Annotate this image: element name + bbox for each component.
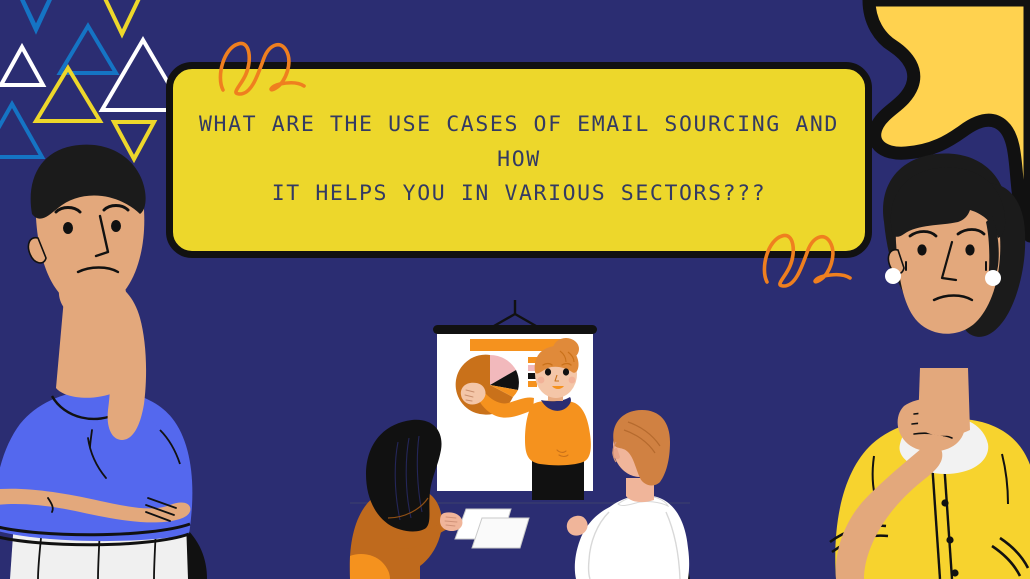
right-woman-neck [918, 368, 970, 436]
right-woman-button-1 [941, 499, 948, 506]
right-woman-button-3 [951, 569, 958, 576]
right-woman-earring-left [885, 268, 901, 284]
right-woman-button-2 [946, 536, 953, 543]
right-woman-earring-right [985, 270, 1001, 286]
thinking-woman-right [0, 0, 1030, 579]
right-woman-eye-right [965, 244, 974, 255]
poster-canvas: WHAT ARE THE USE CASES OF EMAIL SOURCING… [0, 0, 1030, 579]
right-woman-eye-left [917, 244, 926, 255]
